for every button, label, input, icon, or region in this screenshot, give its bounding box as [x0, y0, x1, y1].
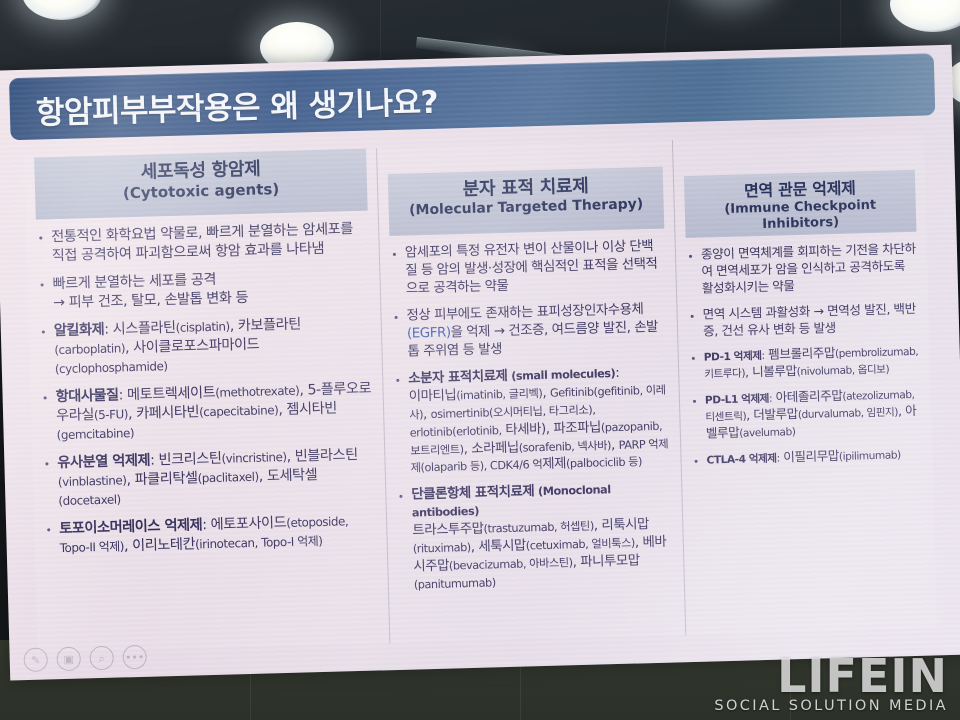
pen-icon[interactable]: ✎	[23, 647, 48, 672]
list-item: 단클론항체 표적치료제 (Monoclonal antibodies)트라스투주…	[396, 480, 674, 595]
list-item: 유사분열 억제제: 빈크리스틴(vincristine), 빈블라스틴(vinb…	[42, 446, 375, 512]
column-header: 분자 표적 치료제 (Molecular Targeted Therapy)	[388, 167, 665, 236]
column-header-en: (Immune Checkpoint Inhibitors)	[689, 197, 913, 234]
list-item: 알킬화제: 시스플라틴(cisplatin), 카보플라틴 (carboplat…	[39, 314, 372, 380]
list-item: 암세포의 특정 유전자 변이 산물이나 이상 단백질 등 암의 발생·성장에 핵…	[390, 238, 666, 299]
column-immune-checkpoint-inhibitors: 면역 관문 억제제 (Immune Checkpoint Inhibitors)…	[672, 134, 937, 636]
ceiling-light	[890, 0, 960, 32]
three-column-content: 세포독성 항암제 (Cytotoxic agents) 전통적인 화학요법 약물…	[24, 134, 937, 653]
list-item: 소분자 표적치료제 (small molecules):이마티닙(imatini…	[393, 363, 671, 478]
ceiling-light	[22, 0, 102, 20]
list-item: CTLA-4 억제제: 이필리무맙(ipilimumab)	[691, 445, 922, 468]
presentation-slide: 항암피부부작용은 왜 생기나요? 세포독성 항암제 (Cytotoxic age…	[0, 45, 960, 681]
column-header: 면역 관문 억제제 (Immune Checkpoint Inhibitors)	[684, 170, 917, 238]
column-cytotoxic-agents: 세포독성 항암제 (Cytotoxic agents) 전통적인 화학요법 약물…	[24, 148, 389, 652]
list-item: 면역 시스템 과활성화 → 면역성 발진, 백반증, 건선 유사 변화 등 발생	[687, 300, 919, 340]
page-title: 항암피부부작용은 왜 생기나요?	[35, 77, 438, 133]
bullet-list: 전통적인 화학요법 약물로, 빠르게 분열하는 암세포를 직접 공격하여 파괴함…	[36, 220, 377, 559]
list-item: 종양이 면역체계를 회피하는 기전을 차단하여 면역세포가 암을 인식하고 공격…	[686, 241, 918, 298]
list-item: 전통적인 화학요법 약물로, 빠르게 분열하는 암세포를 직접 공격하여 파괴함…	[36, 220, 369, 267]
column-header: 세포독성 항암제 (Cytotoxic agents)	[34, 149, 368, 220]
column-molecular-targeted-therapy: 분자 표적 치료제 (Molecular Targeted Therapy) 암…	[376, 140, 685, 643]
list-item: PD-L1 억제제: 아테졸리주맙(atezolizumab, 티센트릭), 더…	[690, 386, 922, 443]
photo-of-projected-slide: 항암피부부작용은 왜 생기나요? 세포독성 항암제 (Cytotoxic age…	[0, 0, 960, 720]
zoom-icon[interactable]: ⌕	[89, 646, 114, 671]
list-item: 빠르게 분열하는 세포를 공격→ 피부 건조, 탈모, 손발톱 변화 등	[37, 267, 370, 314]
presenter-tools-bar[interactable]: ✎ ▣ ⌕ •••	[23, 645, 147, 672]
projection-screen: 항암피부부작용은 왜 생기나요? 세포독성 항암제 (Cytotoxic age…	[0, 45, 960, 681]
list-item: 항대사물질: 메토트렉세이트(methotrexate), 5-플루오로우라실(…	[40, 380, 373, 446]
highlighter-icon[interactable]: ▣	[56, 647, 81, 672]
more-options-icon[interactable]: •••	[122, 645, 147, 670]
list-item: PD-1 억제제: 펨브롤리주맙(pembrolizumab, 키트루다), 니…	[689, 343, 921, 383]
slide-title-banner: 항암피부부작용은 왜 생기나요?	[9, 53, 935, 140]
list-item: 정상 피부에도 존재하는 표피성장인자수용체 (EGFR)을 억제 → 건조증,…	[391, 300, 667, 361]
list-item: 토포이소머레이스 억제제: 에토포사이드(etoposide, Topo-II …	[44, 512, 377, 559]
bullet-list: 종양이 면역체계를 회피하는 기전을 차단하여 면역세포가 암을 인식하고 공격…	[686, 241, 923, 469]
bullet-list: 암세포의 특정 유전자 변이 산물이나 이상 단백질 등 암의 발생·성장에 핵…	[390, 238, 674, 595]
